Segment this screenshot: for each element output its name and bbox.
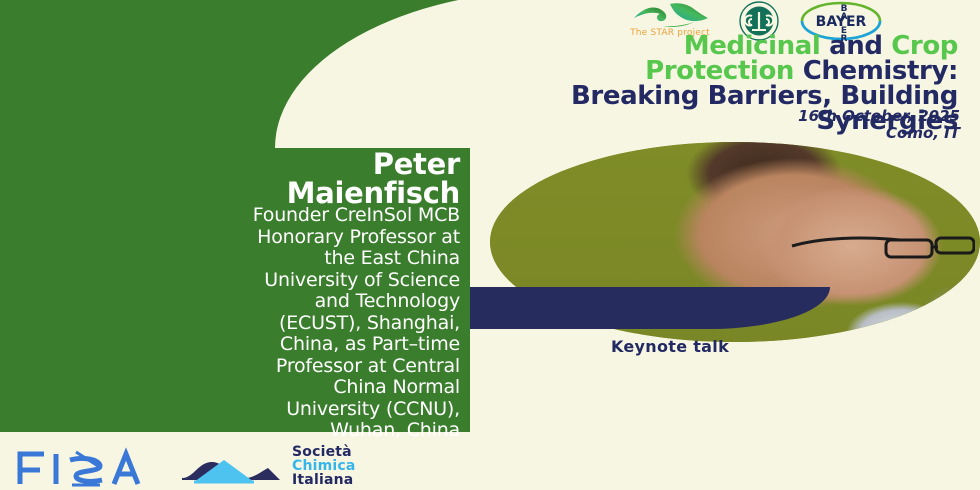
speaker-bio: Founder CreInSol MCB Honorary Professor … <box>10 205 460 442</box>
bio-line: the East China <box>10 248 460 270</box>
bio-line: Founder CreInSol MCB <box>10 205 460 227</box>
event-location: Como, IT <box>520 125 960 142</box>
event-date: 16th October, 2025 <box>520 108 960 125</box>
bio-line: and Technology <box>10 291 460 313</box>
sci-line-1: Società <box>292 445 356 459</box>
speaker-name: Peter Maienfisch <box>10 150 460 208</box>
bio-line: (ECUST), Shanghai, <box>10 313 460 335</box>
event-meta: 16th October, 2025 Como, IT <box>520 108 960 142</box>
bio-line: Honorary Professor at <box>10 227 460 249</box>
poster-canvas: The STAR project BAYER B A E R <box>0 0 980 490</box>
societa-chimica-italiana-logo: Società Chimica Italiana <box>180 444 380 488</box>
sci-line-2: Chimica <box>292 459 356 473</box>
svg-text:A: A <box>841 12 848 22</box>
speaker-first-name: Peter <box>10 150 460 179</box>
fisa-logo <box>14 444 146 488</box>
bio-line: University of Science <box>10 270 460 292</box>
session-label: Keynote talk <box>470 337 870 356</box>
star-project-mark-icon <box>632 1 710 29</box>
sci-wordmark: Società Chimica Italiana <box>292 445 356 487</box>
sci-mountain-icon <box>180 446 284 486</box>
fisa-wordmark-icon <box>14 444 146 488</box>
bio-line: Professor at Central <box>10 356 460 378</box>
bottom-sponsor-logos: Società Chimica Italiana <box>14 443 380 489</box>
bio-line: China Normal <box>10 377 460 399</box>
sci-line-3: Italiana <box>292 473 356 487</box>
eyeglasses-detail <box>790 234 975 262</box>
bio-line: University (CCNU), <box>10 399 460 421</box>
bio-line: China, as Part–time <box>10 334 460 356</box>
bio-line: Wuhan, China <box>10 420 460 442</box>
